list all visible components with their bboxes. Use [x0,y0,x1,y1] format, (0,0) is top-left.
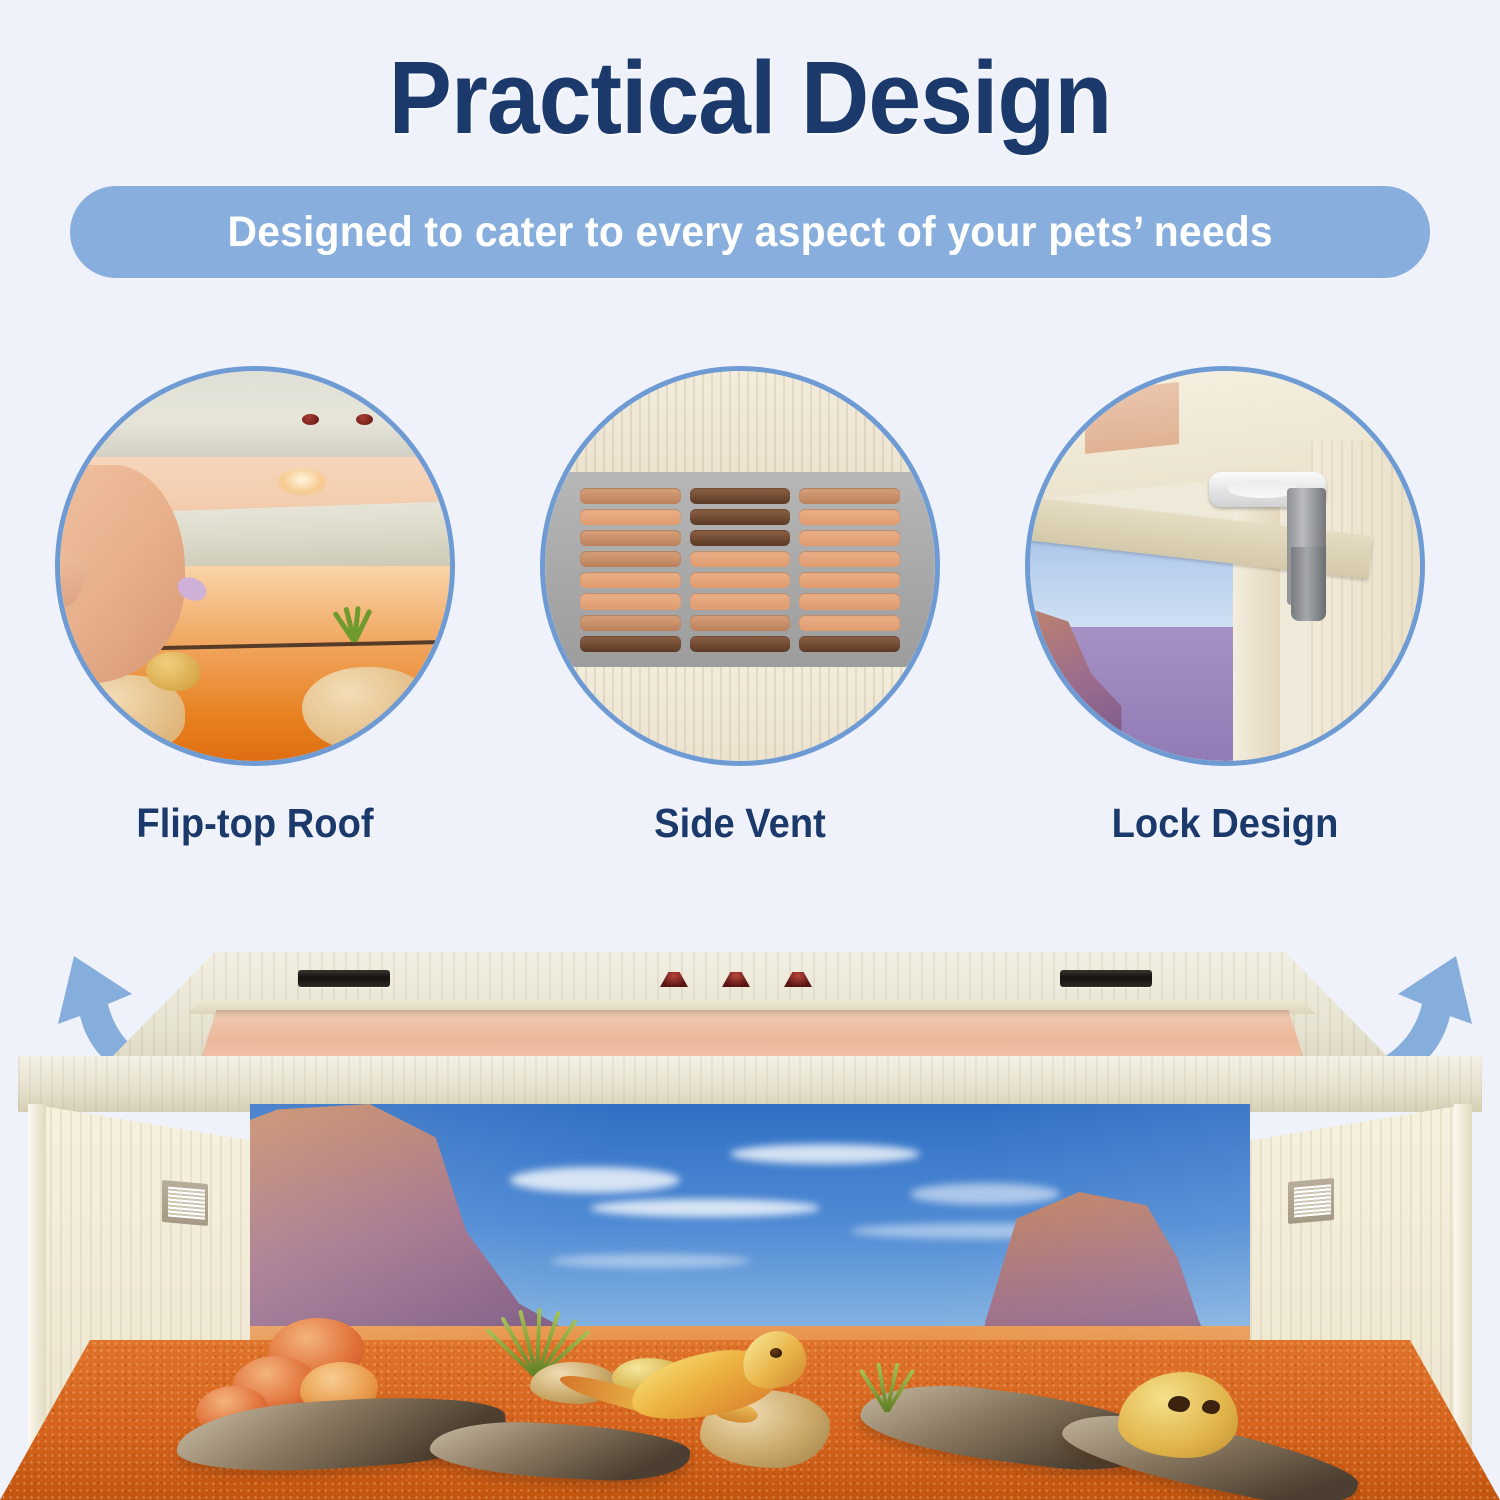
vent-slot [799,572,900,588]
vent-slot [799,509,900,525]
vent-slot [799,636,900,652]
vent-slot [690,509,791,525]
front-opening [1030,527,1233,761]
cloud [730,1144,920,1164]
vent-slot [690,615,791,631]
vent-slot [690,551,791,567]
terrarium-body [0,1104,1500,1500]
vent-slot-grid [580,488,900,652]
vent-slot [580,551,681,567]
decor-fern [840,1356,930,1412]
bearded-dragon [630,1332,830,1442]
page-title: Practical Design [60,44,1440,152]
lamp-knob [302,414,319,425]
lid-top-surface [60,371,450,461]
lid-hinge [1060,970,1152,987]
lid-screen-opening [200,1010,1305,1062]
side-vent-right [1288,1178,1334,1224]
flip-top-roof-photo [60,371,450,761]
dragon-eye [770,1348,782,1358]
vent-slot [690,593,791,609]
side-vent-photo [545,371,935,761]
vent-slot [690,572,791,588]
feature-row: Flip-top Roof [0,366,1500,906]
flip-top-lid [0,952,1500,1112]
wood-panel-top [545,371,935,476]
vent-slot [690,530,791,546]
heat-bulb-glow [278,469,326,495]
vent-slot [690,636,791,652]
vent-slot [799,488,900,504]
subtitle-text: Designed to cater to every aspect of you… [227,208,1272,257]
vent-slot [690,488,791,504]
vent-slot [799,530,900,546]
feature-side-vent: Side Vent [540,366,940,847]
vent-slot [580,509,681,525]
thumb [60,545,91,615]
vent-slot [580,615,681,631]
decor-rock [146,652,201,691]
feature-lock-design: Lock Design [1025,366,1425,847]
vent-slot [580,636,681,652]
feature-image-circle [1025,366,1425,766]
feature-caption: Side Vent [554,800,926,847]
lock-design-photo [1030,371,1420,761]
vent-slot [580,593,681,609]
vent-slot [799,551,900,567]
wood-panel-bottom [545,664,935,762]
product-photo [0,952,1500,1500]
lid-notch [1085,382,1179,454]
feature-caption: Flip-top Roof [69,800,441,847]
subtitle-banner: Designed to cater to every aspect of you… [70,186,1430,278]
side-vent-left [162,1180,208,1226]
vent-plate [545,472,935,667]
vent-slot [580,572,681,588]
vent-slot [580,530,681,546]
vent-slot [799,593,900,609]
vent-slot [580,488,681,504]
decor-skull-eye [1202,1400,1220,1414]
decor-skull-eye [1168,1396,1190,1412]
feature-image-circle [540,366,940,766]
cloud [590,1199,820,1217]
feature-flip-top-roof: Flip-top Roof [55,366,455,847]
feature-image-circle [55,366,455,766]
side-panel [1311,441,1420,761]
vent-slot [799,615,900,631]
lid-hinge [298,970,390,987]
infographic-root: Practical Design Designed to cater to ev… [0,0,1500,1500]
lock-latch-hook [1291,547,1326,621]
decor-plant [317,582,387,642]
feature-caption: Lock Design [1039,800,1411,847]
